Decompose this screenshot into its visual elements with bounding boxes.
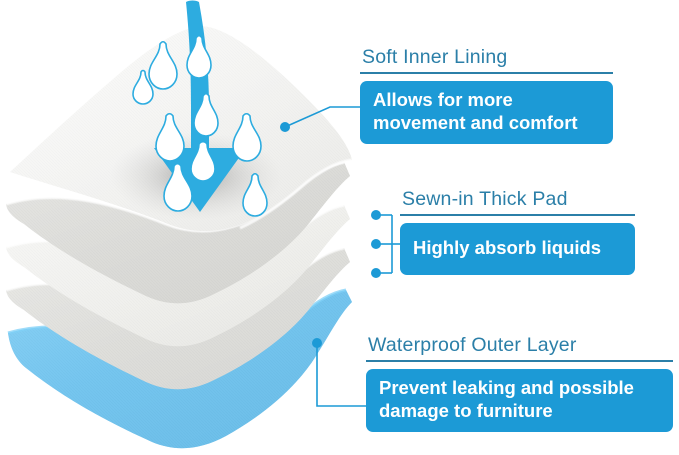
callout-heading-soft-inner-lining: Soft Inner Lining [360,47,613,68]
callout-heading-sewn-in-thick-pad: Sewn-in Thick Pad [400,189,635,210]
callout-body-line: damage to furniture [379,400,660,423]
callout-heading-waterproof-outer-layer: Waterproof Outer Layer [366,335,673,356]
callout-box-waterproof-outer-layer: Prevent leaking and possible damage to f… [366,369,673,431]
callout-body-line: movement and comfort [373,112,600,135]
callout-sewn-in-thick-pad: Sewn-in Thick Pad Highly absorb liquids [400,189,635,275]
callout-waterproof-outer-layer: Waterproof Outer Layer Prevent leaking a… [366,335,673,432]
layered-pad-illustration [0,0,400,455]
callout-body-line: Allows for more [373,89,600,112]
callout-box-sewn-in-thick-pad: Highly absorb liquids [400,223,635,275]
callout-rule-soft-inner-lining [360,72,613,74]
callout-soft-inner-lining: Soft Inner Lining Allows for more moveme… [360,47,613,144]
callout-rule-waterproof-outer-layer [366,360,673,362]
infographic-canvas: Soft Inner Lining Allows for more moveme… [0,0,679,455]
callout-box-soft-inner-lining: Allows for more movement and comfort [360,81,613,143]
callout-body-line: Prevent leaking and possible [379,377,660,400]
callout-body-line: Highly absorb liquids [413,237,622,260]
callout-rule-sewn-in-thick-pad [400,214,635,216]
